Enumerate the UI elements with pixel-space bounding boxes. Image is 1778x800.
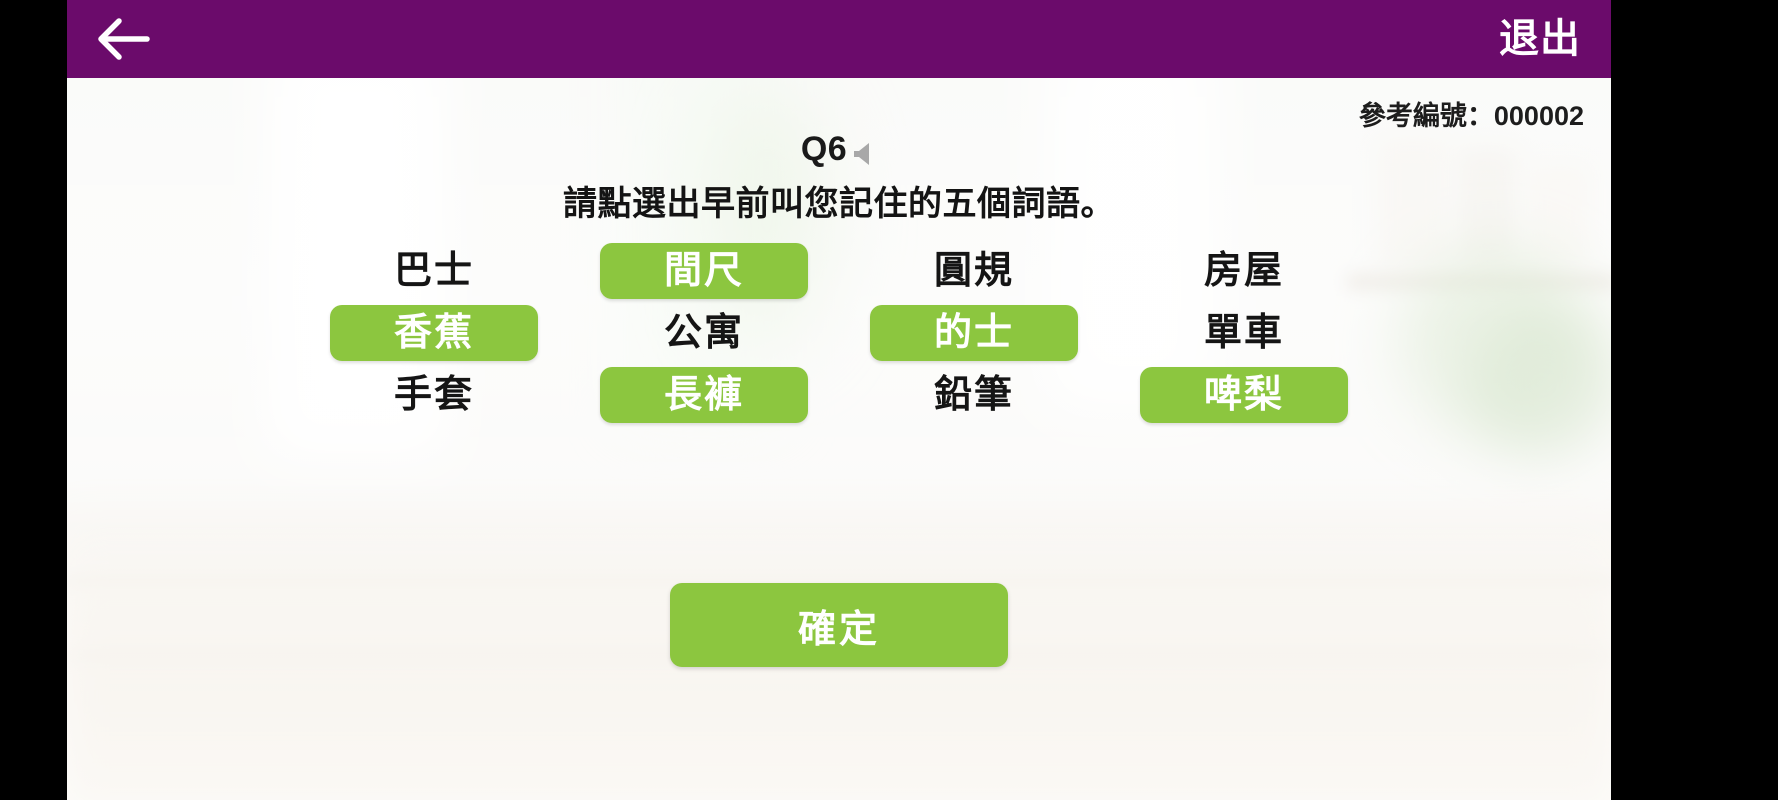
word-option[interactable]: 鉛筆 [870, 367, 1078, 423]
app-header-bar: 退出 [67, 0, 1611, 78]
exit-button[interactable]: 退出 [1499, 19, 1581, 59]
word-cell: 鉛筆 [839, 367, 1109, 423]
word-cell: 間尺 [569, 243, 839, 299]
question-number-row: Q6 [67, 130, 1611, 169]
word-cell: 房屋 [1109, 243, 1379, 299]
confirm-button[interactable]: 確定 [670, 583, 1008, 667]
word-option-grid: 巴士 間尺 圓規 房屋 香蕉 [299, 240, 1379, 426]
word-option[interactable]: 巴士 [330, 243, 538, 299]
word-cell: 手套 [299, 367, 569, 423]
word-cell: 公寓 [569, 305, 839, 361]
back-arrow-icon[interactable] [97, 16, 151, 62]
word-row: 手套 長褲 鉛筆 啤梨 [299, 364, 1379, 426]
letterbox-left [0, 0, 67, 800]
word-cell: 的士 [839, 305, 1109, 361]
word-option[interactable]: 手套 [330, 367, 538, 423]
letterbox-right [1611, 0, 1778, 800]
word-cell: 圓規 [839, 243, 1109, 299]
word-row: 巴士 間尺 圓規 房屋 [299, 240, 1379, 302]
word-cell: 單車 [1109, 305, 1379, 361]
word-option[interactable]: 間尺 [600, 243, 808, 299]
word-option[interactable]: 啤梨 [1140, 367, 1348, 423]
word-option[interactable]: 圓規 [870, 243, 1078, 299]
word-cell: 巴士 [299, 243, 569, 299]
reference-number: 參考編號：000002 [1359, 94, 1584, 133]
word-option[interactable]: 單車 [1140, 305, 1348, 361]
speaker-icon[interactable] [851, 139, 877, 165]
word-option[interactable]: 的士 [870, 305, 1078, 361]
word-option[interactable]: 香蕉 [330, 305, 538, 361]
question-text: 請點選出早前叫您記住的五個詞語。 [67, 176, 1611, 225]
app-root: 退出 參考編號：000002 Q6 請點選出早前叫您記住的五個詞語。 巴士 [0, 0, 1778, 800]
question-content: 參考編號：000002 Q6 請點選出早前叫您記住的五個詞語。 巴士 間尺 [67, 78, 1611, 800]
word-option[interactable]: 房屋 [1140, 243, 1348, 299]
word-option[interactable]: 長褲 [600, 367, 808, 423]
question-number: Q6 [801, 130, 847, 169]
word-cell: 香蕉 [299, 305, 569, 361]
word-cell: 啤梨 [1109, 367, 1379, 423]
word-cell: 長褲 [569, 367, 839, 423]
word-option[interactable]: 公寓 [600, 305, 808, 361]
device-viewport: 退出 參考編號：000002 Q6 請點選出早前叫您記住的五個詞語。 巴士 [67, 0, 1611, 800]
word-row: 香蕉 公寓 的士 單車 [299, 302, 1379, 364]
